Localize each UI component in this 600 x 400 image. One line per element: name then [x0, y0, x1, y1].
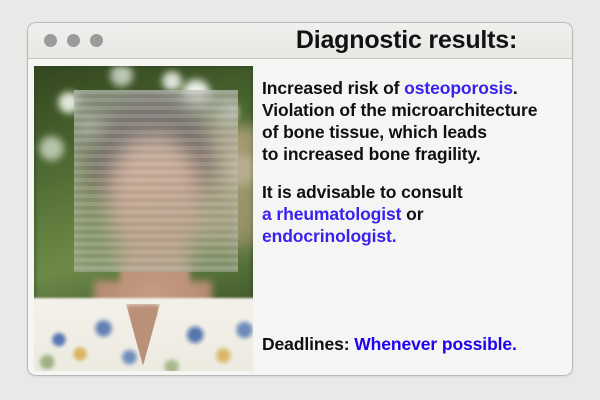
line1-prefix: Increased risk of	[262, 78, 404, 98]
advice-line-3: endocrinologist.	[262, 225, 556, 247]
rheumatologist-link[interactable]: a rheumatologist	[262, 204, 401, 224]
diagnosis-paragraph-2: It is advisable to consult a rheumatolog…	[262, 181, 556, 247]
deadlines-label: Deadlines:	[262, 334, 354, 354]
application-window: Diagnostic results: Increased risk of os…	[27, 22, 573, 376]
diagnosis-line-1: Increased risk of osteoporosis.	[262, 77, 556, 99]
diagnosis-paragraph-1: Increased risk of osteoporosis. Violatio…	[262, 77, 556, 165]
advice-line-2-suffix: or	[401, 204, 423, 224]
diagnosis-line-3: of bone tissue, which leads	[262, 121, 556, 143]
window-content: Increased risk of osteoporosis. Violatio…	[28, 59, 572, 376]
patient-photo-pane	[34, 66, 253, 371]
patient-photo	[34, 66, 253, 371]
close-dot-icon[interactable]	[44, 34, 57, 47]
window-controls[interactable]	[44, 34, 103, 47]
maximize-dot-icon[interactable]	[90, 34, 103, 47]
advice-line-1: It is advisable to consult	[262, 181, 556, 203]
line1-suffix: .	[513, 78, 518, 98]
deadlines-row: Deadlines: Whenever possible.	[262, 334, 517, 355]
osteoporosis-link[interactable]: osteoporosis	[404, 78, 513, 98]
endocrinologist-link[interactable]: endocrinologist.	[262, 226, 397, 246]
diagnosis-line-4: to increased bone fragility.	[262, 143, 556, 165]
blurred-face-region	[74, 90, 238, 272]
diagnosis-text-pane: Increased risk of osteoporosis. Violatio…	[259, 59, 572, 376]
window-titlebar: Diagnostic results:	[28, 23, 572, 59]
minimize-dot-icon[interactable]	[67, 34, 80, 47]
advice-line-2: a rheumatologist or	[262, 203, 556, 225]
page-title: Diagnostic results:	[253, 26, 560, 55]
deadlines-value: Whenever possible.	[354, 334, 517, 354]
diagnosis-line-2: Violation of the microarchitecture	[262, 99, 556, 121]
